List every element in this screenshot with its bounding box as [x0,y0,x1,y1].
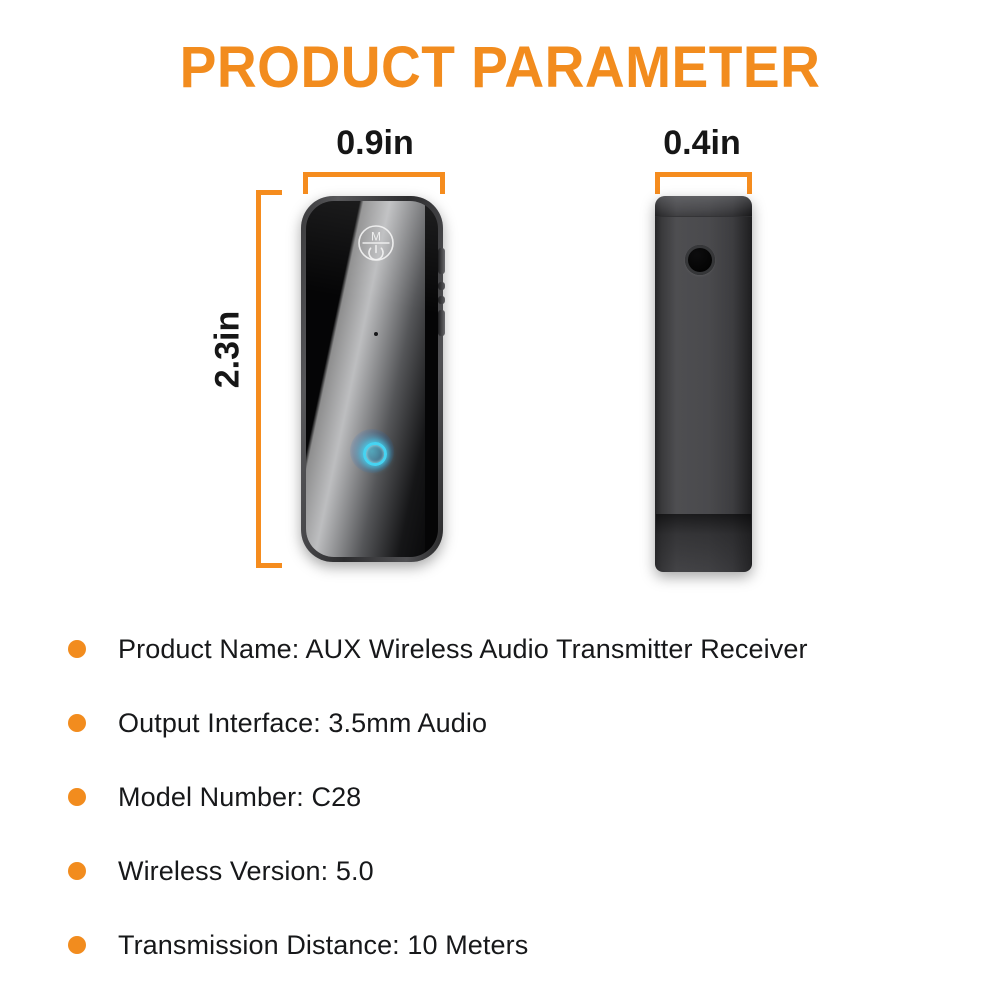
device-front-face: M [306,201,438,557]
spec-text: Transmission Distance: 10 Meters [118,930,528,961]
bullet-icon [68,640,86,658]
spec-list: Product Name: AUX Wireless Audio Transmi… [68,612,968,982]
svg-text:M: M [371,230,381,244]
spec-text: Product Name: AUX Wireless Audio Transmi… [118,634,808,665]
page-title: PRODUCT PARAMETER [25,34,975,101]
bullet-icon [68,936,86,954]
dimension-label-height-front: 2.3in [209,300,248,400]
list-item: Output Interface: 3.5mm Audio [68,686,968,760]
back-clip [656,514,751,572]
volume-down-button [438,310,445,336]
list-item: Model Number: C28 [68,760,968,834]
bullet-icon [68,788,86,806]
dimension-label-width-front: 0.9in [305,124,445,163]
product-image-side-view [655,196,752,572]
spec-text: Wireless Version: 5.0 [118,856,374,887]
list-item: Wireless Version: 5.0 [68,834,968,908]
control-button-1 [438,282,445,290]
bullet-icon [68,862,86,880]
width-bracket-front-view [303,172,445,194]
height-bracket-front-view [256,190,282,568]
mode-power-icon: M [356,223,396,263]
list-item: Product Name: AUX Wireless Audio Transmi… [68,612,968,686]
led-ring [363,442,387,466]
audio-jack-port-icon [685,245,715,275]
spec-text: Output Interface: 3.5mm Audio [118,708,487,739]
width-bracket-side-view [655,172,752,194]
device-top-cap [655,196,752,217]
spec-text: Model Number: C28 [118,782,361,813]
volume-up-button [438,248,445,274]
microphone-pinhole [374,332,378,336]
control-button-2 [438,296,445,304]
led-ring-indicator [350,429,394,473]
device-shell-side [655,196,752,572]
list-item: Transmission Distance: 10 Meters [68,908,968,982]
dimension-label-width-side: 0.4in [652,124,752,163]
bullet-icon [68,714,86,732]
product-image-front-view: M [301,196,443,562]
